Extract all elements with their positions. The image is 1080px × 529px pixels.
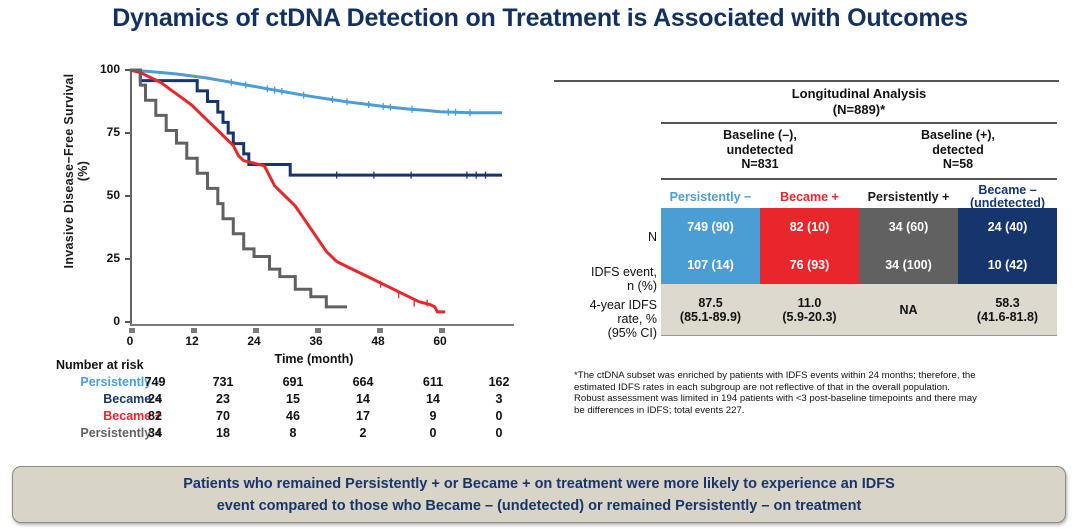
table-footnote: *The ctDNA subset was enriched by patien… [574,370,1068,416]
table-cell-stat-ci: (41.6-81.8) [977,310,1038,324]
risk-value: 162 [482,375,516,389]
slide-root: Dynamics of ctDNA Detection on Treatment… [0,0,1080,529]
page-title: Dynamics of ctDNA Detection on Treatment… [0,4,1080,33]
table-cell: 82 (10) [760,208,859,246]
row-label-idfs-event: IDFS event, n (%) [552,265,657,293]
group-header-neg-line3: N=831 [661,157,859,172]
risk-value: 70 [206,409,240,423]
table-cell: 107 (14) [661,246,760,284]
table-cell: 76 (93) [760,246,859,284]
footnote-line-2: estimated IDFS rates in each subgroup ar… [574,382,1068,394]
footnote-line-3: Robust assessment was limited in 194 pat… [574,393,1068,405]
table-main-header-line1: Longitudinal Analysis [661,86,1057,102]
km-curve-3 [130,70,347,307]
row-label-rate-line3: (95% CI) [552,326,657,340]
row-label-idfs-line1: IDFS event, [552,265,657,279]
row-label-rate-line2: rate, % [552,312,657,326]
km-curve-0 [130,70,502,113]
risk-value: 14 [416,392,450,406]
risk-value: 23 [206,392,240,406]
footnote-line-1: *The ctDNA subset was enriched by patien… [574,370,1068,382]
row-label-n-text: N [552,230,657,244]
table-cell-stat-value: NA [899,303,917,317]
risk-value: 3 [482,392,516,406]
row-label-idfs-line2: n (%) [552,279,657,293]
table-cell-stat: 11.0(5.9-20.3) [760,284,859,335]
group-header-baseline-positive: Baseline (+), detected N=58 [859,128,1057,172]
table-cell-stat-value: 11.0 [798,296,822,310]
table-cell-stat-ci: (5.9-20.3) [782,310,836,324]
table-cell-stat-value: 58.3 [995,296,1019,310]
group-header-baseline-negative: Baseline (–), undetected N=831 [661,128,859,172]
table-cell: 749 (90) [661,208,760,246]
risk-value: 0 [416,426,450,440]
table-main-header-line2: (N=889)* [661,102,1057,118]
km-chart-panel: Invasive Disease−Free Survival (%) 02550… [34,62,534,362]
table-cell: 24 (40) [958,208,1057,246]
table-cell-stat-value: 87.5 [698,296,722,310]
group-header-pos-line1: Baseline (+), [859,128,1057,143]
conclusion-banner: Patients who remained Persistently + or … [12,466,1066,523]
risk-value: 82 [138,409,172,423]
risk-value: 24 [138,392,172,406]
risk-row: Became −24231514143 [34,392,534,409]
risk-value: 9 [416,409,450,423]
risk-value: 664 [346,375,380,389]
risk-value: 46 [276,409,310,423]
risk-value: 8 [276,426,310,440]
table-cell-stat: NA [859,284,958,335]
group-header-pos-line2: detected [859,143,1057,158]
conclusion-banner-text: Patients who remained Persistently + or … [44,473,1034,517]
risk-value: 17 [346,409,380,423]
table-cell-stat: 87.5(85.1-89.9) [661,284,760,335]
table-cell-stat: 58.3(41.6-81.8) [958,284,1057,335]
number-at-risk-heading: Number at risk [56,358,144,372]
banner-line-2: event compared to those who Became – (un… [44,495,1034,517]
risk-value: 2 [346,426,380,440]
row-label-n: N [552,230,657,244]
table-main-header: Longitudinal Analysis (N=889)* [661,86,1057,118]
table-rule-under-groups [661,178,1057,180]
table-column-header-0: Persistently − [661,191,760,204]
table-column-header-3: Became –(undetected) [958,184,1057,210]
risk-row: Persistently −749731691664611162 [34,375,534,392]
risk-row: Became +8270461790 [34,409,534,426]
row-label-rate-line1: 4-year IDFS [552,298,657,312]
risk-value: 0 [482,409,516,423]
group-header-pos-line3: N=58 [859,157,1057,172]
row-label-4year-rate: 4-year IDFS rate, % (95% CI) [552,298,657,340]
risk-row: Persistently +34188200 [34,426,534,443]
risk-value: 0 [482,426,516,440]
table-column-header-label: Became + [760,191,859,204]
group-header-neg-line1: Baseline (–), [661,128,859,143]
km-curves [34,62,534,362]
risk-value: 14 [346,392,380,406]
table-column-header-label: Persistently − [661,191,760,204]
table-cell: 34 (100) [859,246,958,284]
footnote-line-4: be differences in IDFS; total events 227… [574,405,1068,417]
risk-value: 749 [138,375,172,389]
risk-value: 15 [276,392,310,406]
table-cell: 34 (60) [859,208,958,246]
table-cell-stat-ci: (85.1-89.9) [680,310,741,324]
banner-line-1: Patients who remained Persistently + or … [44,473,1034,495]
table-column-header-label: Persistently + [859,191,958,204]
table-column-header-2: Persistently + [859,191,958,204]
risk-value: 691 [276,375,310,389]
group-header-neg-line2: undetected [661,143,859,158]
table-rule-under-main [661,122,1057,124]
risk-value: 34 [138,426,172,440]
risk-value: 611 [416,375,450,389]
risk-value: 18 [206,426,240,440]
table-rule-bottom [661,335,1057,336]
table-rule-top [554,80,1059,82]
table-cell: 10 (42) [958,246,1057,284]
risk-value: 731 [206,375,240,389]
table-column-header-1: Became + [760,191,859,204]
